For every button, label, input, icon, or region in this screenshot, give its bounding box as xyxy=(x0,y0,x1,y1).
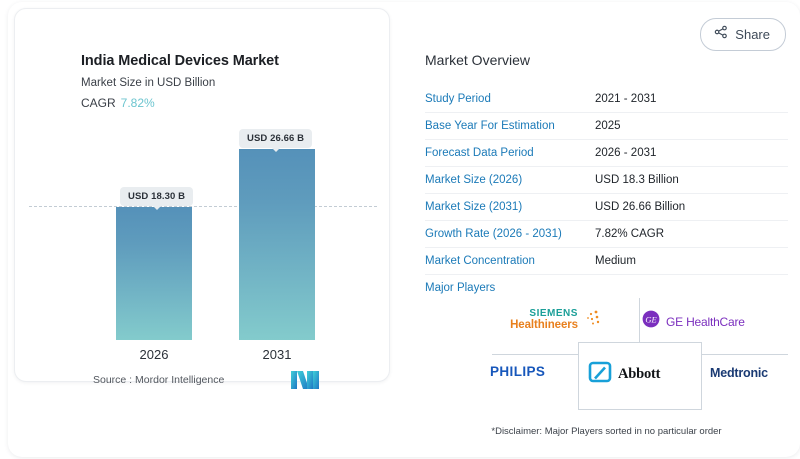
logo-siemens-healthineers: SIEMENS Healthineers xyxy=(492,308,620,333)
players-disclaimer: *Disclaimer: Major Players sorted in no … xyxy=(425,426,788,437)
row-key: Market Concentration xyxy=(425,255,595,267)
x-tick-2026: 2026 xyxy=(116,347,192,362)
philips-label: PHILIPS xyxy=(490,364,545,379)
screenshot-root: India Medical Devices Market Market Size… xyxy=(0,0,800,459)
row-value: USD 18.3 Billion xyxy=(595,174,679,186)
bar-2026[interactable] xyxy=(116,207,192,340)
row-key: Base Year For Estimation xyxy=(425,120,595,132)
ge-healthcare-label: GE HealthCare xyxy=(666,315,745,329)
overview-title: Market Overview xyxy=(425,52,530,68)
row-value: USD 26.66 Billion xyxy=(595,201,685,213)
row-key: Market Size (2031) xyxy=(425,201,595,213)
bar-label-2026: USD 18.30 B xyxy=(120,187,193,206)
mordor-intelligence-logo xyxy=(291,370,319,395)
row-value: 2026 - 2031 xyxy=(595,147,656,159)
table-row: Market Concentration Medium xyxy=(425,248,788,275)
table-row: Market Size (2026) USD 18.3 Billion xyxy=(425,167,788,194)
siemens-line2: Healthineers xyxy=(510,320,578,332)
table-row: Growth Rate (2026 - 2031) 7.82% CAGR xyxy=(425,221,788,248)
abbott-label: Abbott xyxy=(618,366,660,383)
chart-card: India Medical Devices Market Market Size… xyxy=(14,8,390,382)
table-row: Market Size (2031) USD 26.66 Billion xyxy=(425,194,788,221)
bar-label-2031: USD 26.66 B xyxy=(239,129,312,148)
major-players-logos: SIEMENS Healthineers GE xyxy=(492,298,788,410)
row-value: Medium xyxy=(595,255,636,267)
row-key: Market Size (2026) xyxy=(425,174,595,186)
bar-chart-plot: USD 18.30 B USD 26.66 B 2026 2031 xyxy=(15,9,391,383)
logo-abbott: Abbott xyxy=(588,360,660,389)
row-key: Growth Rate (2026 - 2031) xyxy=(425,228,595,240)
logo-medtronic: Medtronic xyxy=(710,366,768,380)
row-value: 7.82% CAGR xyxy=(595,228,664,240)
logo-philips: PHILIPS xyxy=(490,364,545,379)
abbott-symbol-icon xyxy=(588,360,612,389)
x-tick-2031: 2031 xyxy=(239,347,315,362)
bar-2031[interactable] xyxy=(239,149,315,340)
chart-source: Source : Mordor Intelligence xyxy=(93,374,224,386)
row-key: Forecast Data Period xyxy=(425,147,595,159)
cluster-vertical-divider xyxy=(639,298,640,342)
market-overview-panel: Market Overview Study Period 2021 - 2031… xyxy=(412,8,788,448)
svg-text:GE: GE xyxy=(645,314,657,324)
row-value: 2021 - 2031 xyxy=(595,93,656,105)
table-row: Forecast Data Period 2026 - 2031 xyxy=(425,140,788,167)
reference-dashed-line xyxy=(29,206,377,207)
row-value: 2025 xyxy=(595,120,621,132)
medtronic-label: Medtronic xyxy=(710,366,768,380)
logo-ge-healthcare: GE GE HealthCare xyxy=(642,310,745,333)
ge-monogram-icon: GE xyxy=(642,310,660,333)
overview-table: Study Period 2021 - 2031 Base Year For E… xyxy=(425,86,788,301)
siemens-dots-icon xyxy=(582,308,602,333)
row-key: Study Period xyxy=(425,93,595,105)
major-players-label: Major Players xyxy=(425,282,595,294)
table-row: Study Period 2021 - 2031 xyxy=(425,86,788,113)
table-row: Base Year For Estimation 2025 xyxy=(425,113,788,140)
